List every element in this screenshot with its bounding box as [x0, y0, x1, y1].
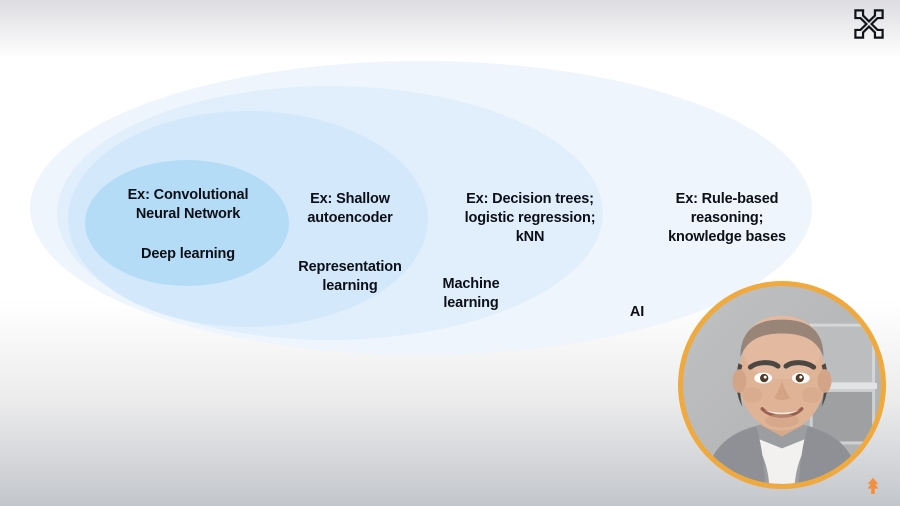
example-label-ai: Ex: Rule-based reasoning; knowledge base… — [636, 190, 818, 247]
set-label-deep-learning: Deep learning — [97, 245, 279, 264]
presentation-slide: Ex: Convolutional Neural Network Deep le… — [0, 0, 900, 506]
presenter-webcam-bubble[interactable] — [678, 281, 886, 489]
example-label-representation-learning: Ex: Shallow autoencoder — [270, 190, 430, 228]
x-mark-logo-icon — [852, 7, 886, 41]
example-label-machine-learning: Ex: Decision trees; logistic regression;… — [440, 190, 620, 247]
webcam-video-feed — [683, 286, 881, 484]
set-label-machine-learning: Machine learning — [404, 275, 538, 313]
example-label-deep-learning: Ex: Convolutional Neural Network — [97, 186, 279, 224]
set-label-ai: AI — [598, 303, 676, 322]
tree-arrow-mark-icon — [864, 476, 882, 496]
